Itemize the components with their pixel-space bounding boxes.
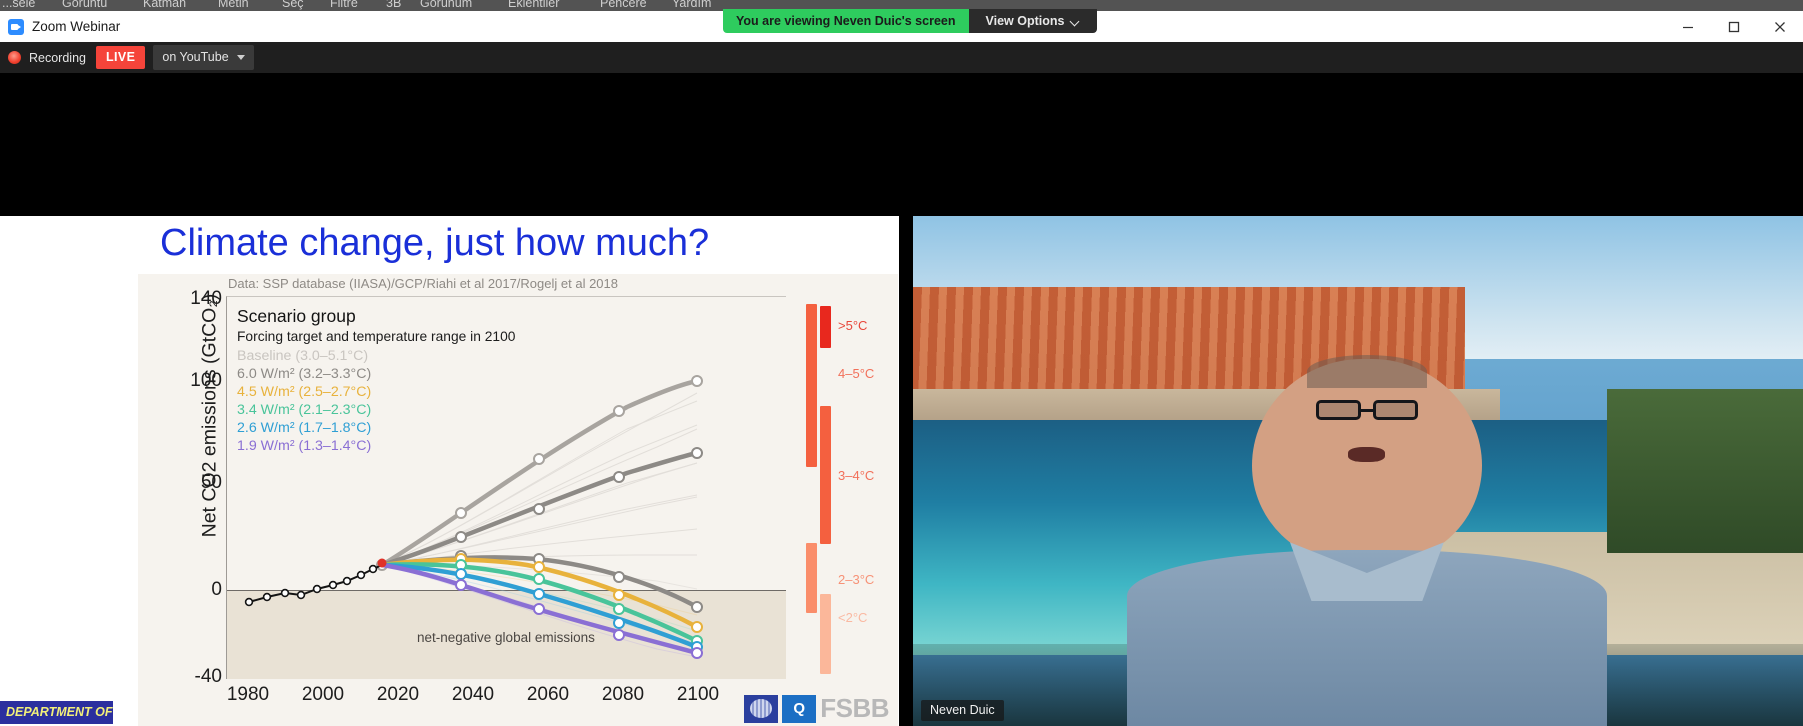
emissions-chart: Data: SSP database (IIASA)/GCP/Riahi et … [138,274,898,726]
menu-item-6[interactable]: 3B [386,0,401,10]
stream-target-label: on YouTube [162,50,228,64]
participant-head [1252,359,1483,565]
menu-item-10[interactable]: Yardım [672,0,711,10]
participant-name-label: Neven Duic [921,700,1004,721]
view-options-button[interactable]: View Options [969,9,1098,33]
department-band: DEPARTMENT OF EN [0,701,113,724]
ytick-50: 50 [162,472,222,494]
participant-hair [1307,355,1427,388]
ytick-neg40: -40 [162,666,222,688]
zoom-logo-icon [8,19,24,35]
temp-label-3to4: 3–4°C [838,468,874,483]
legend-title: Scenario group [237,305,515,327]
legend-entry-60wm2: 6.0 W/m² (3.2–3.3°C) [237,365,515,383]
institution-logos: Q FSBB [744,693,889,724]
xtick-2060: 2060 [527,684,569,706]
meeting-stage: Climate change, just how much? Data: SSP… [0,73,1803,726]
participant-figure [1127,359,1608,726]
stream-target-button[interactable]: on YouTube [153,45,253,70]
menu-item-0[interactable]: ...sele [2,0,35,10]
chart-data-source: Data: SSP database (IIASA)/GCP/Riahi et … [228,276,618,291]
temp-band-bar-2to3 [806,543,817,613]
view-options-label: View Options [986,14,1065,28]
legend-entry-19wm2: 1.9 W/m² (1.3–1.4°C) [237,437,515,455]
shared-screen-slide[interactable]: Climate change, just how much? Data: SSP… [0,216,899,726]
menu-item-5[interactable]: Filtre [330,0,358,10]
recording-label: Recording [29,51,86,65]
y-axis-ticks: 140 100 50 0 -40 [138,274,222,726]
xtick-2100: 2100 [677,684,719,706]
ytick-0: 0 [162,579,222,601]
temp-label-gt5: >5°C [838,318,867,333]
temp-band-bar-4to5 [806,304,817,467]
temp-band-bar-3to4 [820,406,831,544]
zoom-webinar-window: ...sele Görüntü Katman Metin Seç Filtre … [0,0,1803,726]
temperature-band-legend: >5°C 4–5°C 3–4°C 2–3°C <2°C [798,296,898,686]
video-greenery [1607,389,1803,552]
window-title: Zoom Webinar [32,19,120,34]
minimize-button[interactable] [1665,11,1711,42]
slide-title: Climate change, just how much? [160,222,709,265]
ytick-100: 100 [162,370,222,392]
chart-legend: Scenario group Forcing target and temper… [237,305,515,455]
temp-label-2to3: 2–3°C [838,572,874,587]
temp-band-bar-lt2 [820,594,831,674]
menu-item-8[interactable]: Eklentiler [508,0,559,10]
caret-down-icon [237,55,245,60]
close-button[interactable] [1757,11,1803,42]
temp-label-lt2: <2°C [838,610,867,625]
menu-item-9[interactable]: Pencere [600,0,647,10]
screen-share-banner: You are viewing Neven Duic's screen View… [723,9,1097,33]
meeting-toolbar: Recording LIVE on YouTube [0,42,1803,73]
temp-band-bar-gt5 [820,306,831,348]
temp-label-4to5: 4–5°C [838,366,874,381]
participant-video-tile[interactable]: Neven Duic [913,216,1803,726]
xtick-2080: 2080 [602,684,644,706]
window-controls [1665,11,1803,42]
ytick-140: 140 [162,288,222,310]
fsb-mark-icon: Q [782,695,816,723]
menu-item-4[interactable]: Seç [282,0,304,10]
legend-entry-45wm2: 4.5 W/m² (2.5–2.7°C) [237,383,515,401]
menu-item-2[interactable]: Katman [143,0,186,10]
chart-plot-area: Scenario group Forcing target and temper… [226,296,786,679]
menu-item-3[interactable]: Metin [218,0,249,10]
live-badge: LIVE [96,46,145,69]
university-seal-icon [744,695,778,723]
fsbb-wordmark: FSBB [820,693,889,724]
legend-entry-26wm2: 2.6 W/m² (1.7–1.8°C) [237,419,515,437]
legend-entry-34wm2: 3.4 W/m² (2.1–2.3°C) [237,401,515,419]
xtick-2000: 2000 [302,684,344,706]
legend-subtitle: Forcing target and temperature range in … [237,328,515,346]
xtick-2040: 2040 [452,684,494,706]
net-negative-annotation: net-negative global emissions [417,630,595,645]
legend-entry-baseline: Baseline (3.0–5.1°C) [237,347,515,365]
recording-dot-icon [8,51,21,64]
chevron-down-icon [1071,17,1080,26]
recording-status-group: Recording LIVE on YouTube [8,42,254,73]
menu-item-7[interactable]: Görünüm [420,0,472,10]
share-banner-text: You are viewing Neven Duic's screen [723,9,969,33]
menu-item-1[interactable]: Görüntü [62,0,107,10]
participant-mouth [1348,447,1385,461]
maximize-button[interactable] [1711,11,1757,42]
xtick-1980: 1980 [227,684,269,706]
glasses-right-lens [1373,400,1418,421]
glasses-bridge [1361,409,1373,412]
glasses-left-lens [1316,400,1361,421]
glasses-icon [1316,400,1417,421]
xtick-2020: 2020 [377,684,419,706]
